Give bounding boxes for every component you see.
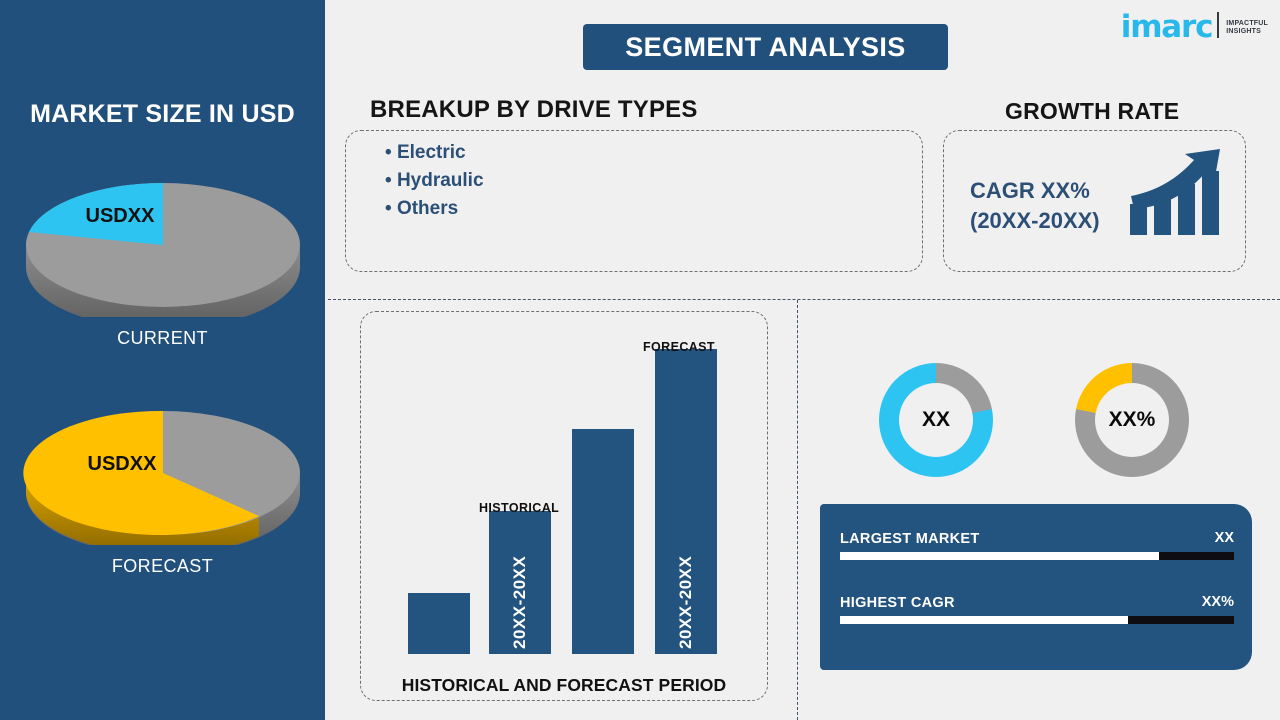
market-size-sidebar: MARKET SIZE IN USD USDXX CURRENT <box>0 0 325 720</box>
bar-chart-axis-title: HISTORICAL AND FORECAST PERIOD <box>382 675 746 696</box>
bullet-icon: • <box>385 170 392 191</box>
drive-type-label: Electric <box>397 142 466 163</box>
logo-tagline-line1: IMPACTFUL <box>1226 20 1268 29</box>
forecast-pie-block: USDXX FORECAST <box>13 385 313 577</box>
page-title: SEGMENT ANALYSIS <box>583 24 948 70</box>
vertical-divider <box>797 300 798 720</box>
cagr-period-line: (20XX-20XX) <box>970 206 1100 236</box>
drive-type-label: Others <box>397 198 458 219</box>
highest-cagr-stat: XX% HIGHEST CAGR <box>840 594 1234 624</box>
largest-market-value: XX <box>1215 530 1234 546</box>
logo-tagline: IMPACTFUL INSIGHTS <box>1226 20 1268 41</box>
largest-market-label: LARGEST MARKET <box>840 531 980 547</box>
drive-types-list: • Electric • Hydraulic • Others <box>385 139 484 223</box>
current-pie-block: USDXX CURRENT <box>13 157 313 349</box>
list-item: • Hydraulic <box>385 167 484 195</box>
sidebar-title: MARKET SIZE IN USD <box>30 100 295 129</box>
list-item: • Electric <box>385 139 484 167</box>
largest-market-progress-track <box>840 552 1234 560</box>
growth-rate-title: GROWTH RATE <box>1005 98 1179 125</box>
highest-cagr-donut-value: XX% <box>1095 383 1169 457</box>
largest-market-donut-value: XX <box>899 383 973 457</box>
forecast-pie-caption: FORECAST <box>13 556 313 577</box>
forecast-pie-chart <box>13 385 313 545</box>
highest-cagr-donut: XX% <box>1075 363 1189 477</box>
bullet-icon: • <box>385 198 392 219</box>
list-item: • Others <box>385 195 484 223</box>
forecast-caption: FORECAST <box>643 340 715 354</box>
highest-cagr-value: XX% <box>1202 594 1234 610</box>
historical-period-label: 20XX-20XX <box>510 563 530 649</box>
growth-arrow-bars-icon <box>1128 147 1223 240</box>
logo-divider <box>1217 12 1219 38</box>
drive-type-label: Hydraulic <box>397 170 484 191</box>
logo-wordmark: imarc <box>1121 14 1213 40</box>
largest-market-donut: XX <box>879 363 993 477</box>
current-pie-caption: CURRENT <box>13 328 313 349</box>
bar-chart: HISTORICAL 20XX-20XX FORECAST 20XX-20XX <box>360 311 768 701</box>
header-band: SEGMENT ANALYSIS imarc IMPACTFUL INSIGHT… <box>325 0 1280 92</box>
highest-cagr-progress-fill <box>840 616 1128 624</box>
highest-cagr-label: HIGHEST CAGR <box>840 595 955 611</box>
current-pie-chart <box>13 157 313 317</box>
drive-types-title: BREAKUP BY DRIVE TYPES <box>370 96 698 124</box>
highest-cagr-progress-track <box>840 616 1234 624</box>
key-stats-panel: XX LARGEST MARKET XX% HIGHEST CAGR <box>820 504 1252 670</box>
logo-tagline-line2: INSIGHTS <box>1226 28 1268 37</box>
bar-1 <box>408 593 470 654</box>
bar-3 <box>572 429 634 654</box>
cagr-line: CAGR XX% <box>970 176 1100 206</box>
historical-caption: HISTORICAL <box>479 501 559 515</box>
forecast-period-label: 20XX-20XX <box>676 563 696 649</box>
imarc-logo: imarc IMPACTFUL INSIGHTS <box>1121 12 1268 40</box>
growth-rate-text: CAGR XX% (20XX-20XX) <box>970 176 1100 236</box>
largest-market-progress-fill <box>840 552 1159 560</box>
horizontal-divider <box>328 299 1280 300</box>
bullet-icon: • <box>385 142 392 163</box>
largest-market-stat: XX LARGEST MARKET <box>840 530 1234 560</box>
